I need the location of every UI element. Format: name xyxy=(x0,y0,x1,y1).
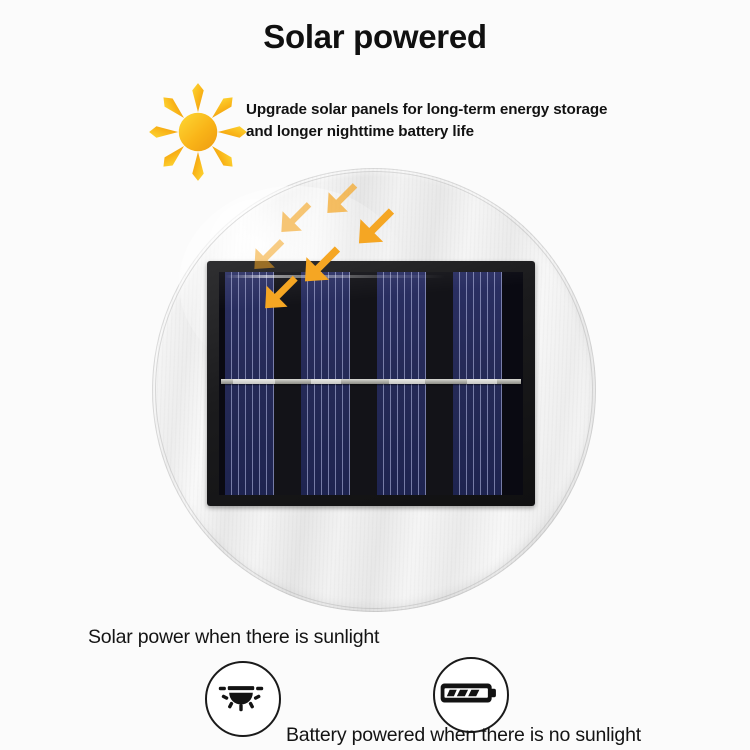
sun-icon xyxy=(146,80,250,184)
downlight-icon xyxy=(205,661,281,737)
subtitle-line-2: and longer nighttime battery life xyxy=(246,121,712,143)
caption-solar: Solar power when there is sunlight xyxy=(88,626,379,649)
infographic-page: Solar powered xyxy=(0,0,750,750)
subtitle-line-1: Upgrade solar panels for long-term energ… xyxy=(246,99,712,121)
page-title: Solar powered xyxy=(0,18,750,56)
caption-battery: Battery powered when there is no sunligh… xyxy=(286,724,641,747)
battery-charged-icon xyxy=(433,657,509,733)
subtitle: Upgrade solar panels for long-term energ… xyxy=(246,99,712,143)
